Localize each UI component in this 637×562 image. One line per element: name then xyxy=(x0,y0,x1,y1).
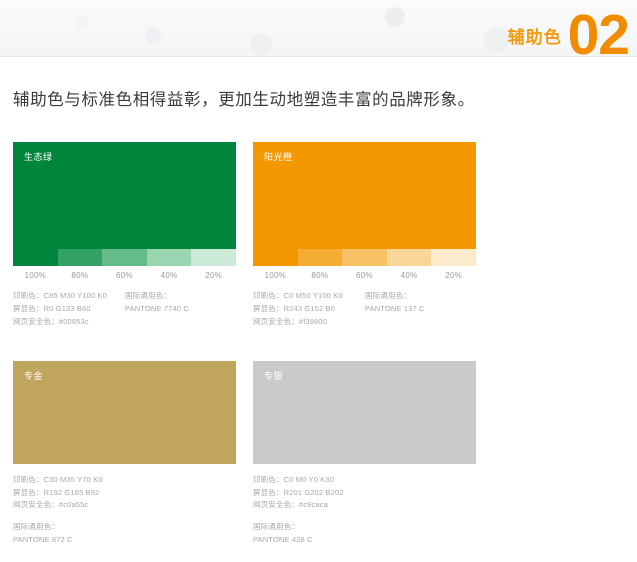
spec-print-value: C85 M30 Y100 K0 xyxy=(44,291,107,300)
color-swatch: 生态绿 xyxy=(13,142,236,249)
spec-websafe-label: 网页安全色： xyxy=(253,500,299,509)
tint-step xyxy=(298,249,343,266)
spec-screen-value: R192 G165 B92 xyxy=(44,488,100,497)
color-spec-block: 印刷色：C30 M35 Y70 K0 屏显色：R192 G165 B92 网页安… xyxy=(13,474,236,547)
spec-screen-label: 屏显色： xyxy=(13,304,44,313)
spec-print-line: 印刷色：C30 M35 Y70 K0 xyxy=(13,474,236,487)
color-spec-block: 印刷色：C85 M30 Y100 K0 屏显色：R0 G133 B60 网页安全… xyxy=(13,290,236,329)
color-card: 阳光橙 100% 80% 60% 40% 20% 印刷色：C0 M50 Y100… xyxy=(253,142,476,329)
spec-print-value: C0 M50 Y100 K0 xyxy=(284,291,343,300)
tint-label: 40% xyxy=(387,271,432,280)
color-spec-column-values: 印刷色：C85 M30 Y100 K0 屏显色：R0 G133 B60 网页安全… xyxy=(13,290,125,329)
spec-screen-label: 屏显色： xyxy=(253,304,284,313)
color-spec-block: 印刷色：C0 M0 Y0 K30 屏显色：R201 G202 B202 网页安全… xyxy=(253,474,476,547)
spec-websafe-label: 网页安全色： xyxy=(13,317,59,326)
tint-step xyxy=(431,249,476,266)
tint-scale xyxy=(13,249,236,266)
tint-scale xyxy=(253,249,476,266)
spec-websafe-value: #00853c xyxy=(59,317,89,326)
spec-print-value: C0 M0 Y0 K30 xyxy=(284,475,334,484)
spec-websafe-value: #c0a55c xyxy=(59,500,88,509)
tint-label: 80% xyxy=(58,271,103,280)
spec-pantone-value: PANTONE 7740 C xyxy=(125,303,236,316)
spec-print-label: 印刷色： xyxy=(253,291,284,300)
color-spec-pantone-group: 国际通用色： PANTONE 428 C xyxy=(253,521,476,547)
color-spec-pantone-group: 国际通用色： PANTONE 872 C xyxy=(13,521,236,547)
tint-scale-labels: 100% 80% 60% 40% 20% xyxy=(253,271,476,280)
spec-websafe-value: #c9caca xyxy=(299,500,328,509)
spec-international-label: 国际通用色： xyxy=(253,521,476,534)
spec-international-label: 国际通用色： xyxy=(125,290,236,303)
spec-print-line: 印刷色：C85 M30 Y100 K0 xyxy=(13,290,125,303)
color-card: 专金 印刷色：C30 M35 Y70 K0 屏显色：R192 G165 B92 … xyxy=(13,361,236,547)
color-card-row-top: 生态绿 100% 80% 60% 40% 20% 印刷色：C85 M30 Y10… xyxy=(13,142,483,329)
intro-paragraph: 辅助色与标准色相得益彰，更加生动地塑造丰富的品牌形象。 xyxy=(13,86,475,110)
spec-websafe-label: 网页安全色： xyxy=(253,317,299,326)
color-swatch-label: 生态绿 xyxy=(24,150,53,163)
spec-websafe-value: #f39800 xyxy=(299,317,327,326)
tint-label: 60% xyxy=(102,271,147,280)
spec-international-label: 国际通用色： xyxy=(13,521,236,534)
tint-step xyxy=(342,249,387,266)
tint-step xyxy=(191,249,236,266)
tint-step xyxy=(387,249,432,266)
spec-screen-value: R201 G202 B202 xyxy=(284,488,344,497)
color-spec-column-pantone: 国际通用色： PANTONE 137 C xyxy=(365,290,476,329)
tint-step xyxy=(13,249,58,266)
spec-pantone-value: PANTONE 872 C xyxy=(13,534,236,547)
color-card-grid: 生态绿 100% 80% 60% 40% 20% 印刷色：C85 M30 Y10… xyxy=(13,142,483,547)
color-spec-block: 印刷色：C0 M50 Y100 K0 屏显色：R243 G152 B0 网页安全… xyxy=(253,290,476,329)
color-swatch-label: 专金 xyxy=(24,369,43,382)
spec-websafe-line: 网页安全色：#c9caca xyxy=(253,499,476,512)
spec-screen-line: 屏显色：R201 G202 B202 xyxy=(253,487,476,500)
color-swatch: 专金 xyxy=(13,361,236,464)
tint-label: 60% xyxy=(342,271,387,280)
color-swatch: 阳光橙 xyxy=(253,142,476,249)
spec-screen-line: 屏显色：R0 G133 B60 xyxy=(13,303,125,316)
spec-websafe-line: 网页安全色：#f39800 xyxy=(253,316,365,329)
color-swatch: 专银 xyxy=(253,361,476,464)
tint-step xyxy=(253,249,298,266)
spec-websafe-line: 网页安全色：#00853c xyxy=(13,316,125,329)
tint-step xyxy=(147,249,192,266)
tint-step xyxy=(58,249,103,266)
spec-screen-line: 屏显色：R243 G152 B0 xyxy=(253,303,365,316)
tint-label: 20% xyxy=(191,271,236,280)
color-card: 生态绿 100% 80% 60% 40% 20% 印刷色：C85 M30 Y10… xyxy=(13,142,236,329)
spec-print-line: 印刷色：C0 M50 Y100 K0 xyxy=(253,290,365,303)
tint-step xyxy=(102,249,147,266)
color-swatch-label: 阳光橙 xyxy=(264,150,293,163)
spec-print-label: 印刷色： xyxy=(253,475,284,484)
spec-screen-value: R0 G133 B60 xyxy=(44,304,91,313)
color-card-row-bottom: 专金 印刷色：C30 M35 Y70 K0 屏显色：R192 G165 B92 … xyxy=(13,361,483,547)
spec-pantone-value: PANTONE 137 C xyxy=(365,303,476,316)
spec-international-label: 国际通用色： xyxy=(365,290,476,303)
tint-label: 20% xyxy=(431,271,476,280)
section-header: 辅助色 02 xyxy=(508,0,629,57)
spec-print-label: 印刷色： xyxy=(13,291,44,300)
spec-print-value: C30 M35 Y70 K0 xyxy=(44,475,103,484)
color-swatch-label: 专银 xyxy=(264,369,283,382)
spec-print-line: 印刷色：C0 M0 Y0 K30 xyxy=(253,474,476,487)
tint-label: 80% xyxy=(298,271,343,280)
section-title: 辅助色 xyxy=(508,29,562,57)
tint-label: 40% xyxy=(147,271,192,280)
spec-websafe-line: 网页安全色：#c0a55c xyxy=(13,499,236,512)
spec-screen-line: 屏显色：R192 G165 B92 xyxy=(13,487,236,500)
section-number: 02 xyxy=(568,12,629,57)
tint-label: 100% xyxy=(13,271,58,280)
color-card: 专银 印刷色：C0 M0 Y0 K30 屏显色：R201 G202 B202 网… xyxy=(253,361,476,547)
spec-print-label: 印刷色： xyxy=(13,475,44,484)
color-spec-column-pantone: 国际通用色： PANTONE 7740 C xyxy=(125,290,236,329)
spec-screen-value: R243 G152 B0 xyxy=(284,304,335,313)
tint-scale-labels: 100% 80% 60% 40% 20% xyxy=(13,271,236,280)
spec-screen-label: 屏显色： xyxy=(13,488,44,497)
color-spec-column-values: 印刷色：C0 M50 Y100 K0 屏显色：R243 G152 B0 网页安全… xyxy=(253,290,365,329)
tint-label: 100% xyxy=(253,271,298,280)
spec-pantone-value: PANTONE 428 C xyxy=(253,534,476,547)
spec-websafe-label: 网页安全色： xyxy=(13,500,59,509)
spec-screen-label: 屏显色： xyxy=(253,488,284,497)
